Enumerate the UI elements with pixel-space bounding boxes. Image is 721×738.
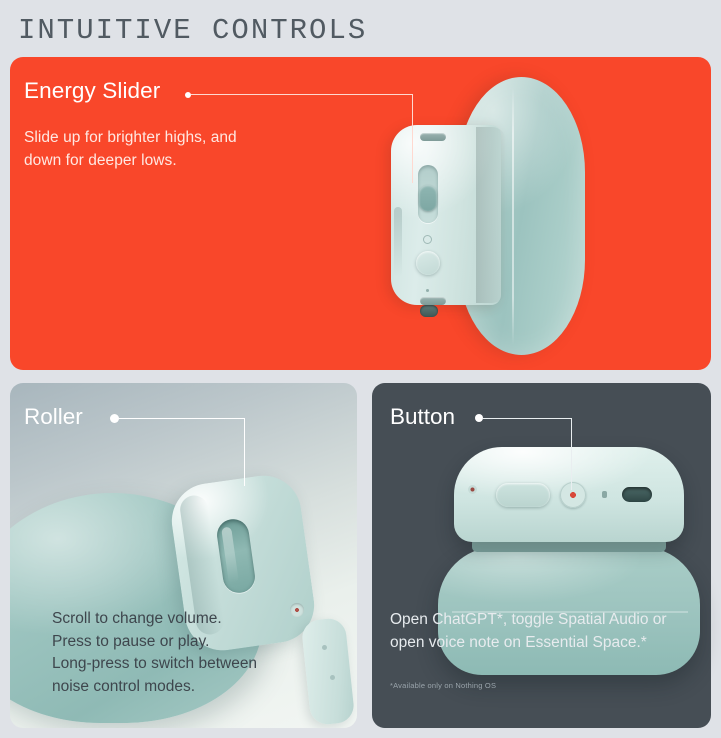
button-description: Open ChatGPT*, toggle Spatial Audio or o… xyxy=(390,609,700,654)
button-label: Button xyxy=(390,404,455,430)
description-line: open voice note on Essential Space.* xyxy=(390,632,700,655)
roller-leader-line-vertical xyxy=(244,418,245,486)
status-led-icon xyxy=(426,289,429,292)
description-line: Long-press to switch between xyxy=(52,653,332,676)
button-panel-footnote: *Available only on Nothing OS xyxy=(390,681,496,691)
case-usb-c-port-icon xyxy=(622,487,652,502)
earbud-case-art xyxy=(372,425,711,605)
roller-description: Scroll to change volume. Press to pause … xyxy=(52,608,332,698)
case-slider-control xyxy=(496,483,550,507)
energy-slider-description: Slide up for brighter highs, and down fo… xyxy=(24,126,314,172)
energy-slider-leader-line-vertical xyxy=(412,94,413,183)
roller-label: Roller xyxy=(24,404,83,430)
description-line: down for deeper lows. xyxy=(24,149,314,172)
description-line: Scroll to change volume. xyxy=(52,608,332,631)
description-line: noise control modes. xyxy=(52,676,332,699)
case-status-led-icon xyxy=(602,491,607,498)
description-line: Press to pause or play. xyxy=(52,631,332,654)
product-features-page: INTUITIVE CONTROLS Energy Slider Slide u… xyxy=(0,0,721,738)
power-symbol-icon xyxy=(423,235,432,244)
page-title: INTUITIVE CONTROLS xyxy=(18,14,367,48)
usb-c-port-icon xyxy=(420,305,438,317)
description-line: Open ChatGPT*, toggle Spatial Audio or xyxy=(390,609,700,632)
plate-etch-detail xyxy=(394,207,402,277)
hinge-top-icon xyxy=(420,133,446,141)
side-plate-shadow xyxy=(476,127,506,303)
energy-slider-leader-line-horizontal xyxy=(191,94,413,95)
energy-slider-label: Energy Slider xyxy=(24,78,160,104)
button-leader-line-horizontal xyxy=(483,418,572,419)
case-microphone-icon xyxy=(468,485,477,494)
roller-leader-line-horizontal xyxy=(119,418,245,419)
energy-slider-knob xyxy=(419,185,437,211)
energy-slider-leader-dot xyxy=(185,92,191,98)
case-action-button xyxy=(560,482,586,508)
button-leader-line-vertical xyxy=(571,418,572,490)
button-leader-dot xyxy=(475,414,483,422)
headphone-side-view-art xyxy=(392,57,711,370)
roller-leader-dot xyxy=(110,414,119,423)
hinge-bottom-icon xyxy=(420,297,446,305)
earcup-seam-line xyxy=(512,87,514,345)
description-line: Slide up for brighter highs, and xyxy=(24,126,314,149)
multifunction-button xyxy=(416,251,440,275)
